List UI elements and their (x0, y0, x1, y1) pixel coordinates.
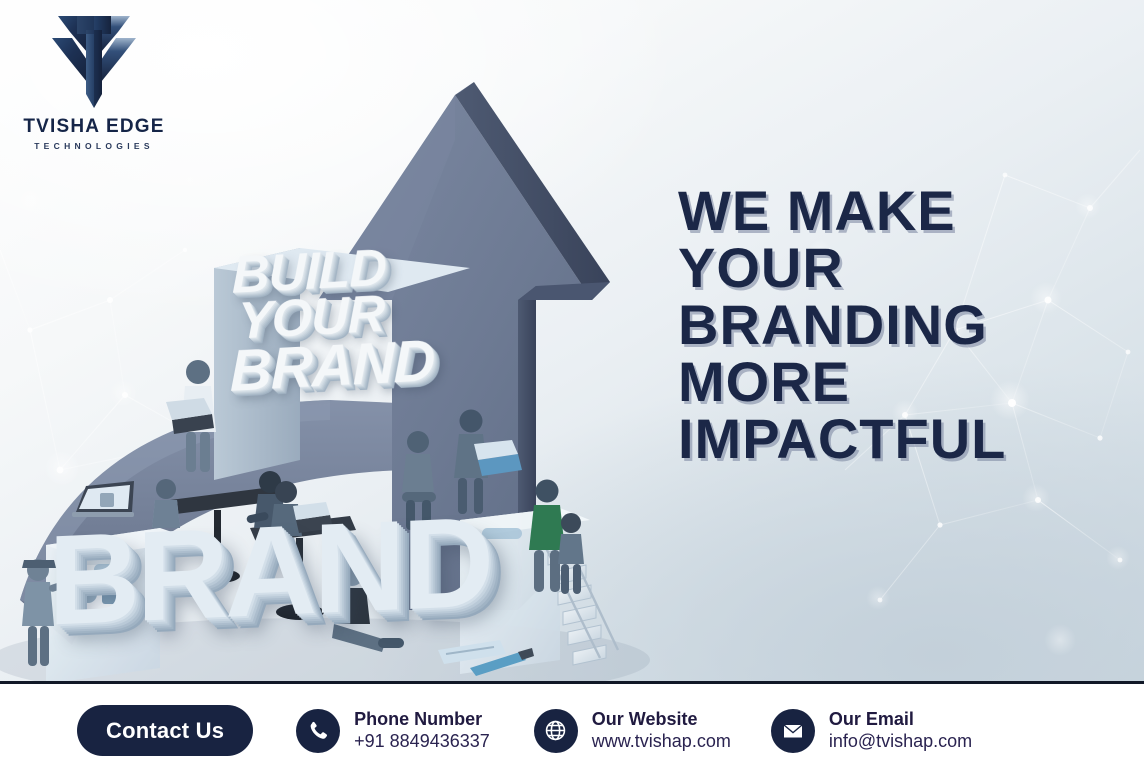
headline-line-5: IMPACTFUL (678, 410, 1108, 467)
build-your-brand-sign: BUILD YOUR BRAND (232, 240, 492, 396)
contact-item-phone[interactable]: Phone Number +91 8849436337 (296, 709, 490, 753)
contact-label-website: Our Website (592, 709, 698, 729)
contact-value-phone: +91 8849436337 (354, 731, 490, 751)
envelope-icon (771, 709, 815, 753)
contact-value-email: info@tvishap.com (829, 731, 972, 751)
contact-label-phone: Phone Number (354, 709, 482, 729)
contact-info-group: Phone Number +91 8849436337 Our Website … (296, 709, 972, 753)
contact-value-website: www.tvishap.com (592, 731, 731, 751)
contact-text-email: Our Email info@tvishap.com (829, 709, 972, 753)
contact-item-website[interactable]: Our Website www.tvishap.com (534, 709, 731, 753)
logo-tagline: TECHNOLOGIES (14, 141, 174, 151)
contact-text-phone: Phone Number +91 8849436337 (354, 709, 490, 753)
headline-line-1: WE MAKE (678, 182, 1108, 239)
page-title: WE MAKE YOUR BRANDING MORE IMPACTFUL (678, 182, 1108, 468)
contact-footer: Contact Us Phone Number +91 8849436337 (0, 684, 1144, 777)
phone-icon (296, 709, 340, 753)
contact-item-email[interactable]: Our Email info@tvishap.com (771, 709, 972, 753)
contact-label-email: Our Email (829, 709, 914, 729)
floor-brand-word: BRAND (48, 498, 490, 645)
marketing-banner: BUILD YOUR BRAND BRAND (0, 0, 1144, 777)
tvisha-edge-emblem-icon (46, 12, 142, 110)
hero-section: BUILD YOUR BRAND BRAND (0, 0, 1144, 683)
logo-company-name: TVISHA EDGE (14, 116, 174, 138)
headline-line-3: BRANDING (678, 296, 1108, 353)
contact-text-website: Our Website www.tvishap.com (592, 709, 731, 753)
headline-line-4: MORE (678, 353, 1108, 410)
company-logo: TVISHA EDGE TECHNOLOGIES (14, 12, 174, 151)
globe-icon (534, 709, 578, 753)
contact-us-button[interactable]: Contact Us (77, 705, 253, 756)
headline-line-2: YOUR (678, 239, 1108, 296)
